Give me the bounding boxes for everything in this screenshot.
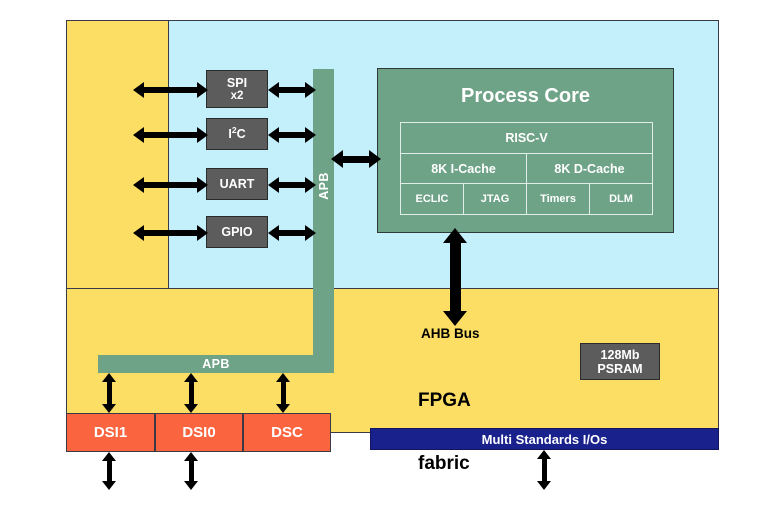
- gpio-label: GPIO: [221, 225, 252, 239]
- block-diagram-canvas: APB APB SPI x2 I2C UART GPIO Process Cor…: [0, 0, 770, 490]
- core-cell-dlm: DLM: [590, 184, 652, 214]
- core-cell-riscv: RISC-V: [401, 123, 652, 153]
- spi-label-line1: SPI: [227, 76, 247, 90]
- arrow-spi-to-apb: [268, 81, 316, 98]
- arrow-i2c-to-apb: [268, 126, 316, 143]
- display-block-dsi0[interactable]: DSI0: [155, 413, 243, 452]
- apb-bus-horizontal-label: APB: [98, 355, 334, 373]
- core-cell-jtag: JTAG: [464, 184, 527, 214]
- process-core-table: RISC-V 8K I-Cache 8K D-Cache ECLIC JTAG …: [400, 122, 653, 215]
- arrow-ahb-bus: [443, 228, 467, 326]
- arrow-fabric-to-gpio: [133, 224, 208, 241]
- process-core-block[interactable]: Process Core RISC-V 8K I-Cache 8K D-Cach…: [377, 68, 674, 233]
- fpga-label-line2: fabric: [418, 453, 471, 474]
- core-row-riscv: RISC-V: [401, 123, 652, 154]
- apb-bus-vertical: [313, 69, 334, 372]
- core-cell-timers: Timers: [527, 184, 590, 214]
- arrow-dsi0-external: [183, 452, 199, 490]
- arrow-apb-to-dsc: [275, 373, 291, 413]
- psram-label-line2: PSRAM: [597, 362, 642, 376]
- i2c-label: I2C: [228, 127, 245, 141]
- arrow-uart-to-apb: [268, 176, 316, 193]
- psram-label-line1: 128Mb: [601, 348, 640, 362]
- peripheral-block-gpio[interactable]: GPIO: [206, 216, 268, 248]
- core-row-blocks: ECLIC JTAG Timers DLM: [401, 184, 652, 214]
- core-cell-dcache: 8K D-Cache: [527, 154, 652, 184]
- arrow-fabric-to-i2c: [133, 126, 208, 143]
- display-block-dsc[interactable]: DSC: [243, 413, 331, 452]
- process-core-title: Process Core: [378, 85, 673, 108]
- peripheral-block-uart[interactable]: UART: [206, 168, 268, 200]
- arrow-fabric-to-spi: [133, 81, 208, 98]
- arrow-apb-to-dsi1: [101, 373, 117, 413]
- ahb-bus-label: AHB Bus: [421, 326, 480, 341]
- arrow-io-bar-external: [536, 450, 552, 490]
- core-cell-eclic: ECLIC: [401, 184, 464, 214]
- core-cell-icache: 8K I-Cache: [401, 154, 527, 184]
- uart-label: UART: [220, 177, 255, 191]
- arrow-gpio-to-apb: [268, 224, 316, 241]
- peripheral-block-i2c[interactable]: I2C: [206, 118, 268, 150]
- fpga-label-line1: FPGA: [418, 390, 471, 411]
- core-row-caches: 8K I-Cache 8K D-Cache: [401, 154, 652, 185]
- arrow-dsi1-external: [101, 452, 117, 490]
- spi-label-line2: x2: [231, 90, 244, 103]
- multi-standards-io-bar[interactable]: Multi Standards I/Os: [370, 428, 719, 450]
- arrow-apb-to-dsi0: [183, 373, 199, 413]
- display-block-dsi1[interactable]: DSI1: [66, 413, 155, 452]
- arrow-apb-to-process-core: [331, 149, 381, 169]
- psram-memory-block[interactable]: 128Mb PSRAM: [580, 343, 660, 380]
- arrow-fabric-to-uart: [133, 176, 208, 193]
- peripheral-block-spi[interactable]: SPI x2: [206, 70, 268, 108]
